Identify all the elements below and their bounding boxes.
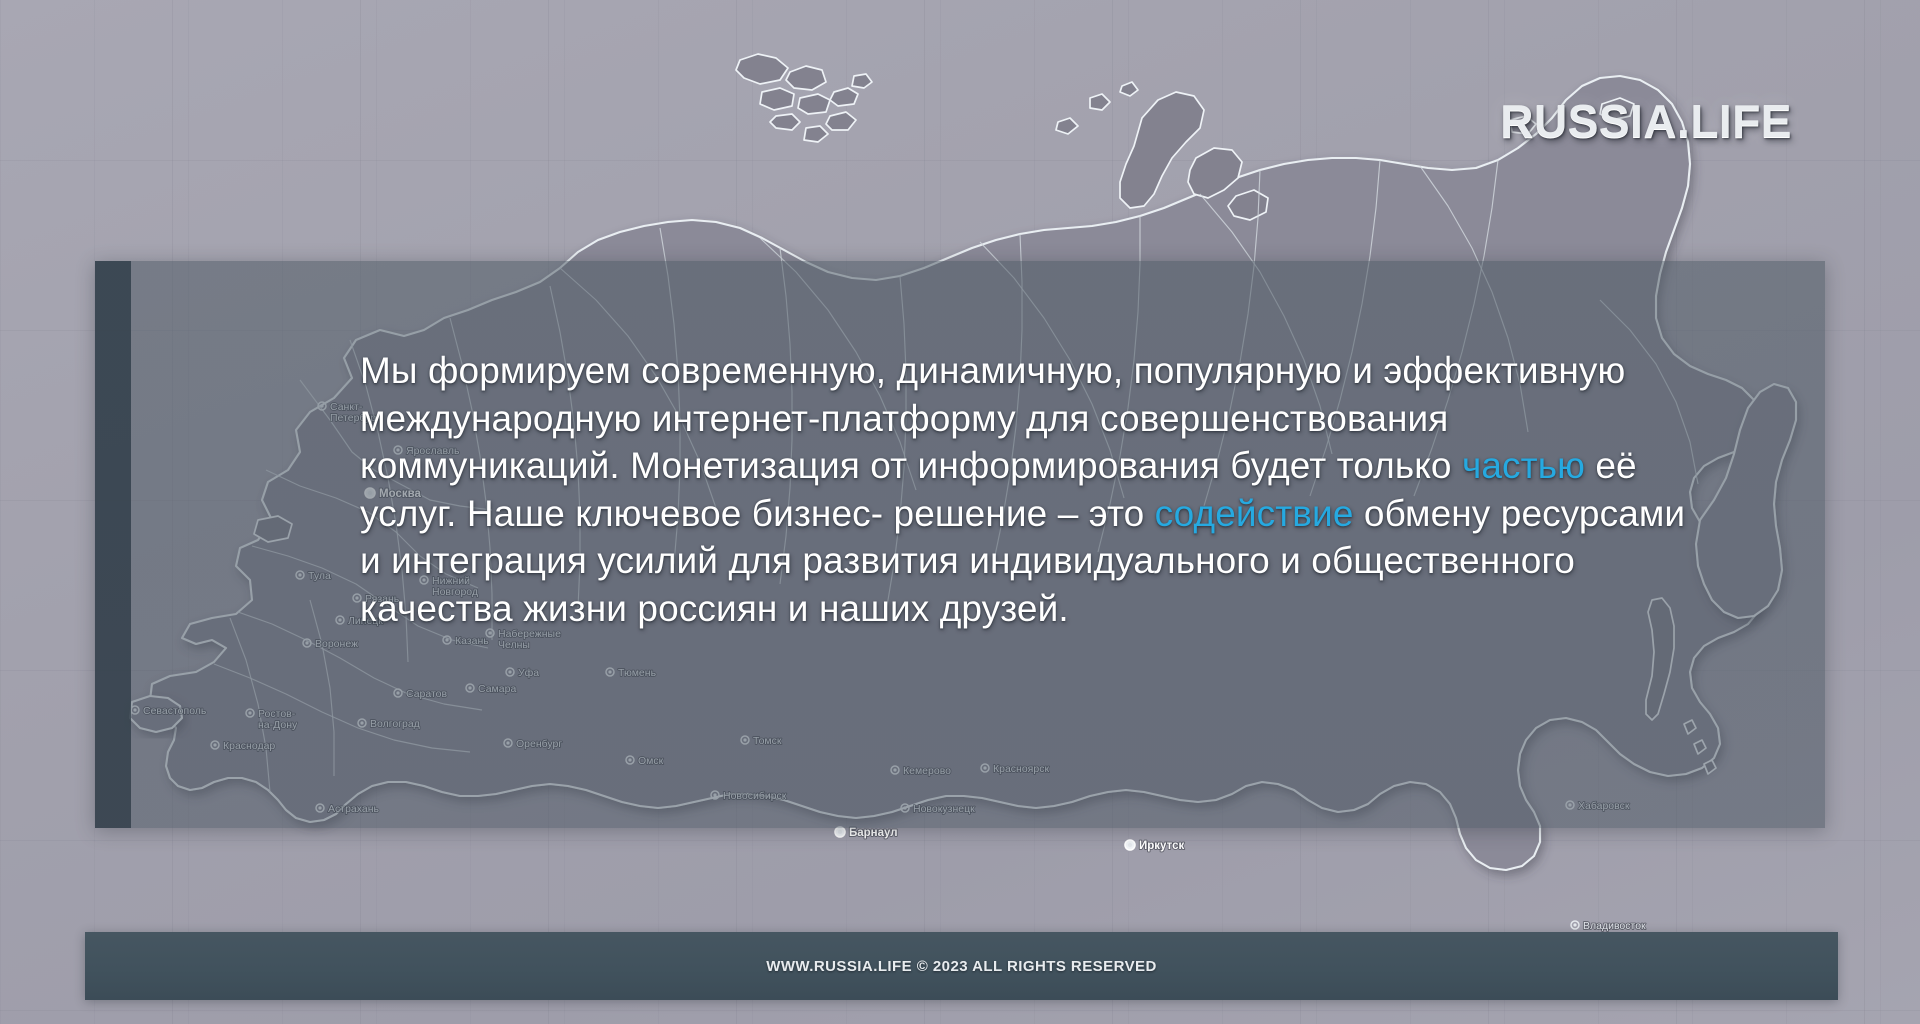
footer-bar: WWW.RUSSIA.LIFE © 2023 ALL RIGHTS RESERV… <box>85 932 1838 1000</box>
paragraph-segment: Мы формируем современную, динамичную, по… <box>360 350 1636 486</box>
city-dot-icon <box>1125 840 1135 850</box>
city-dot-icon <box>835 827 845 837</box>
city-label: Иркутск <box>1139 840 1184 852</box>
content-panel: Мы формируем современную, динамичную, по… <box>95 261 1825 828</box>
city-dot-core-icon <box>1573 923 1576 926</box>
city-dot-core-icon <box>1128 843 1132 847</box>
city-dot-core-icon <box>838 830 842 834</box>
map-city-marker: Владивосток <box>1571 920 1646 932</box>
brand-logo: RUSSIA.LIFE <box>1500 98 1792 144</box>
mission-paragraph: Мы формируем современную, динамичную, по… <box>360 347 1700 632</box>
copyright-text: WWW.RUSSIA.LIFE © 2023 ALL RIGHTS RESERV… <box>766 958 1157 975</box>
city-label: Владивосток <box>1583 920 1646 932</box>
highlighted-term: содействие <box>1155 493 1354 534</box>
map-city-marker: Иркутск <box>1125 840 1184 852</box>
slide-canvas: Санкт-ПетербургМоскваЯрославльТулаРязань… <box>0 0 1920 1024</box>
highlighted-term: частью <box>1462 445 1585 486</box>
panel-accent-bar <box>95 261 131 828</box>
city-label: Барнаул <box>849 827 898 839</box>
franz-josef-land <box>736 54 872 142</box>
map-city-marker: Барнаул <box>835 827 898 839</box>
city-dot-icon <box>1571 921 1579 929</box>
